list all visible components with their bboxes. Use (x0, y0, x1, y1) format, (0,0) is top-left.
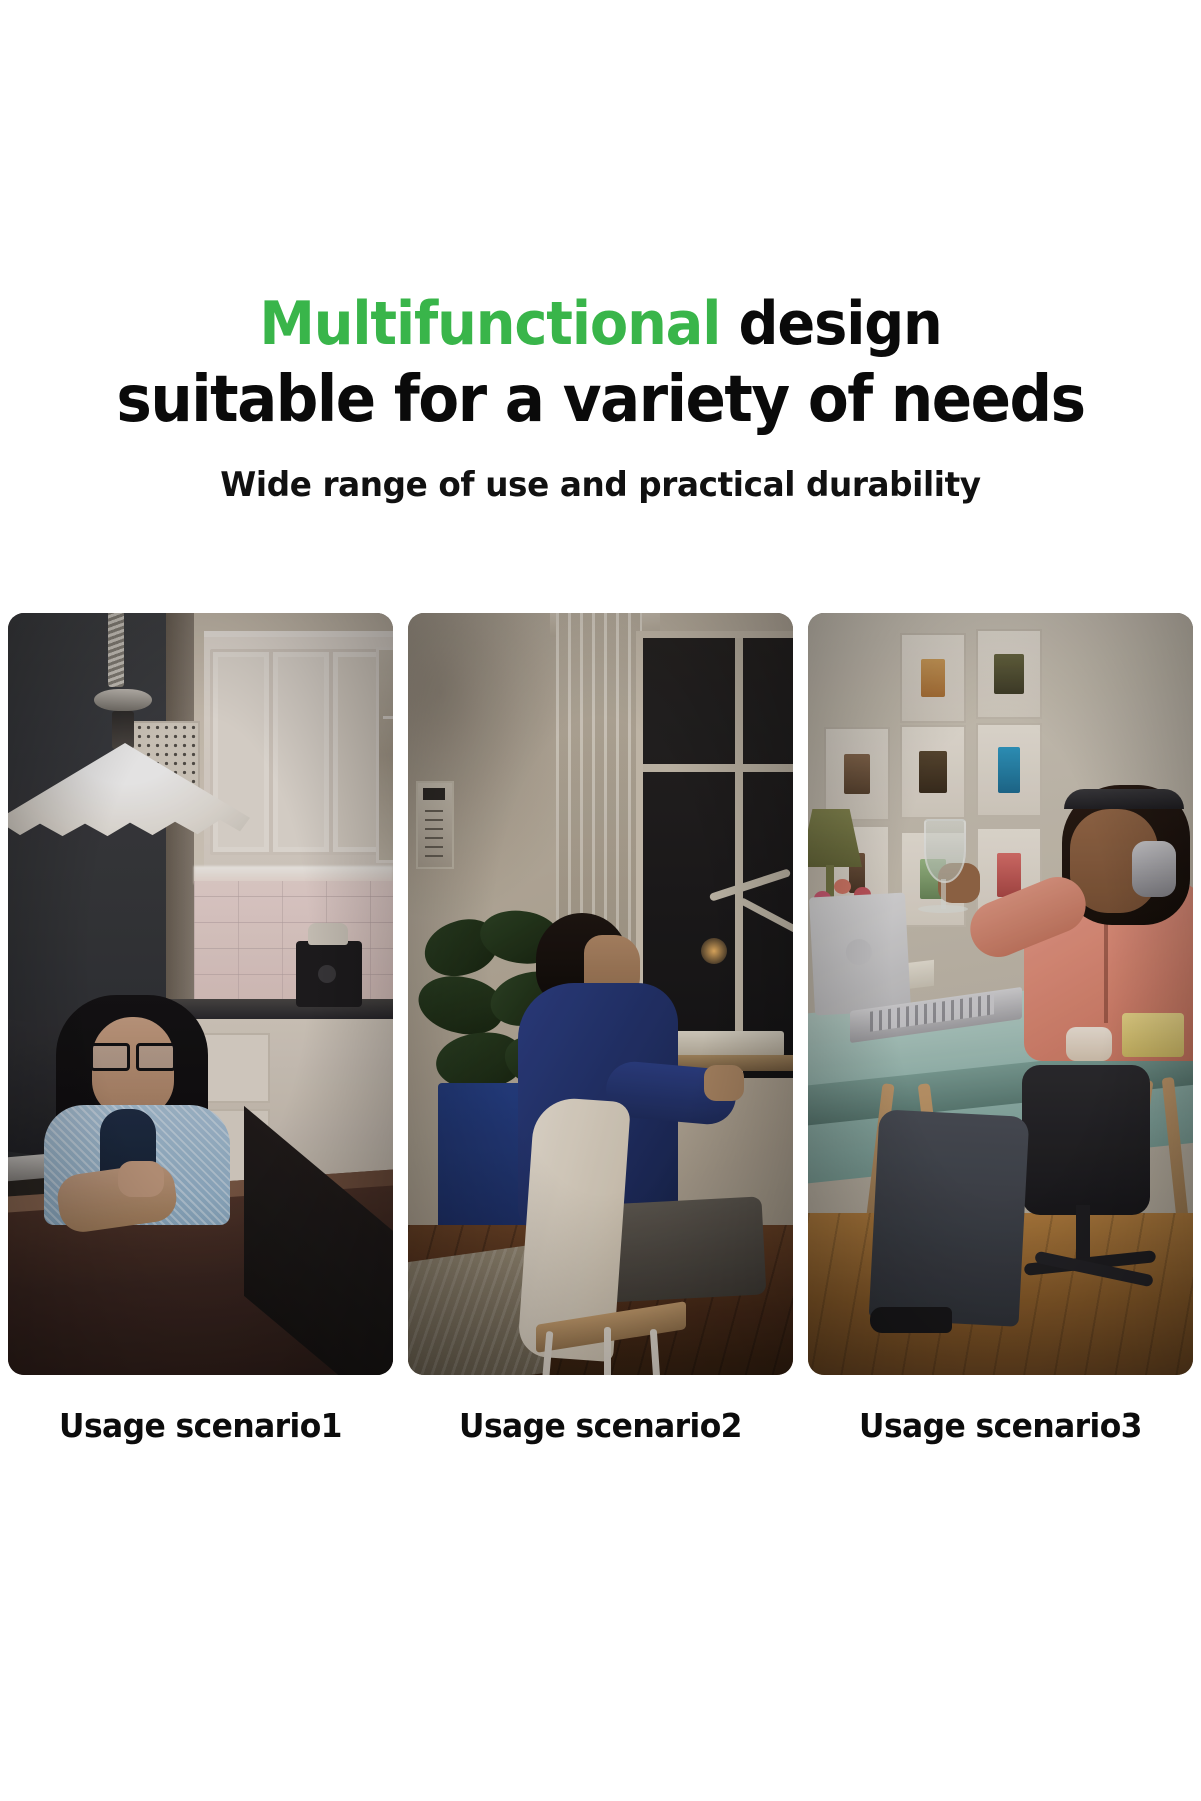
wall-art-frame (824, 727, 890, 821)
pendant-lamp-neck (112, 711, 134, 749)
headline-line-1: Multifunctional design (42, 286, 1159, 362)
subway-tile-backsplash (194, 881, 393, 1001)
product-infographic-page: Multifunctional design suitable for a va… (0, 0, 1201, 1801)
headphones-band (1064, 789, 1184, 809)
caption-row: Usage scenario1 Usage scenario2 Usage sc… (8, 1406, 1193, 1445)
person-hand (118, 1161, 164, 1197)
wall-art-frame (900, 633, 966, 723)
headline-accent-word: Multifunctional (259, 289, 720, 359)
desk-lunch-box (1122, 1013, 1184, 1057)
headline-line-2: suitable for a variety of needs (42, 362, 1159, 438)
laptop-screen (809, 893, 911, 1016)
subtitle: Wide range of use and practical durabili… (24, 464, 1177, 506)
window-mullion-horizontal (643, 764, 793, 772)
scenario-caption-2: Usage scenario2 (418, 1406, 784, 1445)
scenario-image-2[interactable] (408, 613, 793, 1375)
wine-glass (924, 819, 966, 883)
person-trousers (869, 1109, 1030, 1327)
chair-leg (604, 1327, 611, 1375)
wall-thermostat-panel (416, 781, 454, 869)
wall-art-frame (976, 723, 1042, 817)
person-hand (704, 1065, 744, 1101)
eyeglasses-icon (90, 1043, 176, 1065)
desk-snack (1066, 1027, 1112, 1061)
scenario-gallery (8, 613, 1193, 1375)
cabinet-door (270, 649, 332, 855)
window-mullion-vertical (735, 638, 743, 1078)
wall-art-frame (900, 725, 966, 819)
scene-office-headphones (808, 613, 1193, 1375)
framed-dress-print (919, 751, 947, 793)
scenario-image-3[interactable] (808, 613, 1193, 1375)
headline-line-1-rest: design (720, 289, 941, 359)
framed-dress-print (998, 747, 1020, 793)
window-light-glow (701, 938, 727, 964)
counter-appliance (296, 941, 362, 1007)
scenario-image-1[interactable] (8, 613, 393, 1375)
kitchen-upper-cabinets (204, 631, 393, 872)
scenario-caption-1: Usage scenario1 (18, 1406, 384, 1445)
wine-glass-base (918, 905, 968, 913)
pendant-lamp-cord (108, 613, 124, 687)
wall-art-frame (976, 629, 1042, 719)
headphones-earcup (1132, 841, 1176, 897)
cabinet-glass-door (376, 647, 393, 863)
framed-dress-print (844, 754, 870, 794)
framed-dress-print (994, 654, 1024, 694)
flower (834, 879, 851, 894)
office-chair (1022, 1065, 1150, 1215)
person-shoe (870, 1307, 952, 1333)
scenario-caption-3: Usage scenario3 (818, 1406, 1184, 1445)
scene-kitchen-laptop (8, 613, 393, 1375)
chair-post (1076, 1205, 1090, 1265)
scene-evening-desk (408, 613, 793, 1375)
framed-dress-print (921, 659, 945, 697)
pendant-lamp-canopy (94, 689, 152, 711)
heading-block: Multifunctional design suitable for a va… (0, 286, 1201, 506)
